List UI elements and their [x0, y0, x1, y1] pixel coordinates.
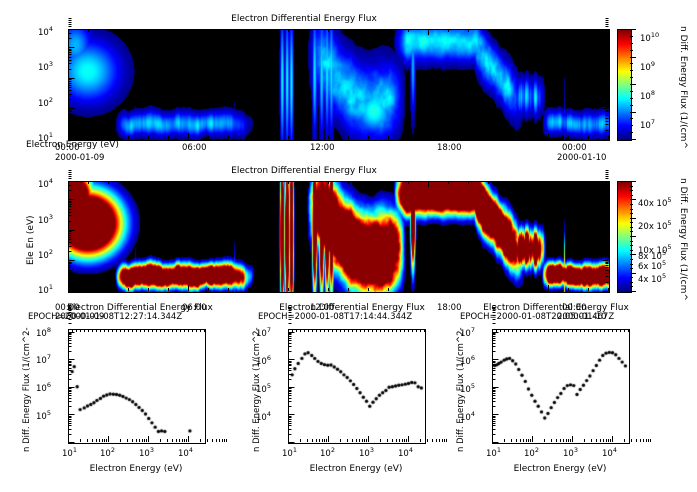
top-colorbar-label: n Diff. Energy Flux (1/(cm^ — [678, 26, 688, 149]
sp3-ytick-1e5: 105 — [460, 382, 475, 395]
spectrum3-plot[interactable] — [492, 329, 630, 444]
middle-colorbar-label: n Diff. Energy Flux (1/(cm^ — [678, 178, 688, 301]
spectrum2-subtitle: EPOCH=2000-01-08T17:14:44.344Z — [258, 312, 488, 322]
sp1-ytick-1e7: 107 — [36, 353, 51, 366]
middle-spectrogram-plot[interactable] — [68, 181, 610, 293]
mid-ytick-1e1: 101 — [38, 283, 53, 296]
top-cbtick-1e8: 108 — [640, 89, 655, 102]
sp3-xtick-1e4: 104 — [602, 446, 617, 459]
spectrum1-xlabel: Electron Energy (eV) — [68, 464, 204, 474]
top-xtick-date-end: 2000-01-10 — [557, 153, 606, 163]
mid-cbtick-40: 40x 105 — [638, 196, 672, 209]
sp2-ytick-1e4: 104 — [256, 410, 271, 423]
sp1-ytick-1e5: 105 — [36, 409, 51, 422]
spectrum3-xlabel: Electron Energy (eV) — [492, 464, 628, 474]
sp1-xtick-1e3: 103 — [139, 446, 154, 459]
top-xtick-0: 00:00 — [55, 143, 80, 153]
spectrum1-subtitle: EPOCH=2000-01-08T12:27:14.344Z — [28, 312, 258, 322]
top-cbtick-1e7: 107 — [640, 118, 655, 131]
spectrum2-xlabel: Electron Energy (eV) — [288, 464, 424, 474]
mid-ytick-1e3: 103 — [38, 213, 53, 226]
sp2-ytick-1e7: 107 — [256, 326, 271, 339]
middle-colorbar[interactable] — [617, 181, 632, 293]
mid-cbtick-20: 20x 105 — [638, 219, 672, 232]
sp2-xtick-1e2: 102 — [320, 446, 335, 459]
figure-canvas: Electron Differential Energy Flux Electr… — [0, 0, 697, 492]
top-ytick-1e3: 103 — [38, 60, 53, 73]
middle-spectrogram-title: Electron Differential Energy Flux — [0, 166, 608, 176]
middle-spectrogram-ylabel: Ele En (eV) — [26, 215, 36, 265]
sp2-xtick-1e3: 103 — [359, 446, 374, 459]
top-spectrogram-plot[interactable] — [68, 29, 610, 141]
spectrum1-ylabel: n Diff. Energy Flux (1/(cm^2- — [22, 327, 32, 452]
sp1-xtick-1e2: 102 — [100, 446, 115, 459]
sp3-ytick-1e4: 104 — [460, 410, 475, 423]
sp2-ytick-1e5: 105 — [256, 382, 271, 395]
top-cbtick-1e9: 109 — [640, 60, 655, 73]
sp2-ytick-1e6: 106 — [256, 354, 271, 367]
top-colorbar[interactable] — [617, 29, 632, 141]
top-ytick-1e1: 101 — [38, 131, 53, 144]
mid-cbtick-6: 6x 105 — [638, 259, 666, 272]
sp1-xtick-1e1: 101 — [62, 446, 77, 459]
mid-cbtick-4: 4x 105 — [638, 272, 666, 285]
top-ytick-1e2: 102 — [38, 96, 53, 109]
sp3-xtick-1e2: 102 — [524, 446, 539, 459]
top-xtick-date-start: 2000-01-09 — [55, 153, 104, 163]
sp2-xtick-1e4: 104 — [398, 446, 413, 459]
sp1-ytick-1e8: 108 — [36, 326, 51, 339]
sp3-ytick-1e7: 107 — [460, 326, 475, 339]
spectrum1-plot[interactable] — [68, 329, 206, 444]
sp3-ytick-1e6: 106 — [460, 354, 475, 367]
spectrum2-plot[interactable] — [288, 329, 426, 444]
top-xtick-1: 06:00 — [182, 143, 207, 153]
top-xtick-3: 18:00 — [437, 143, 462, 153]
spectrum3-subtitle: EPOCH=2000-01-08T20:05:01.467Z — [460, 312, 690, 322]
sp1-xtick-1e4: 104 — [178, 446, 193, 459]
mid-ytick-1e2: 102 — [38, 248, 53, 261]
sp3-xtick-1e1: 101 — [486, 446, 501, 459]
top-cbtick-1e10: 1010 — [640, 31, 659, 44]
sp2-xtick-1e1: 101 — [282, 446, 297, 459]
mid-ytick-1e4: 104 — [38, 177, 53, 190]
top-xtick-2: 12:00 — [310, 143, 335, 153]
sp1-ytick-1e6: 106 — [36, 381, 51, 394]
sp3-xtick-1e3: 103 — [563, 446, 578, 459]
top-ytick-1e4: 104 — [38, 25, 53, 38]
top-spectrogram-title: Electron Differential Energy Flux — [0, 14, 608, 24]
top-xtick-4: 00:00 — [562, 143, 587, 153]
